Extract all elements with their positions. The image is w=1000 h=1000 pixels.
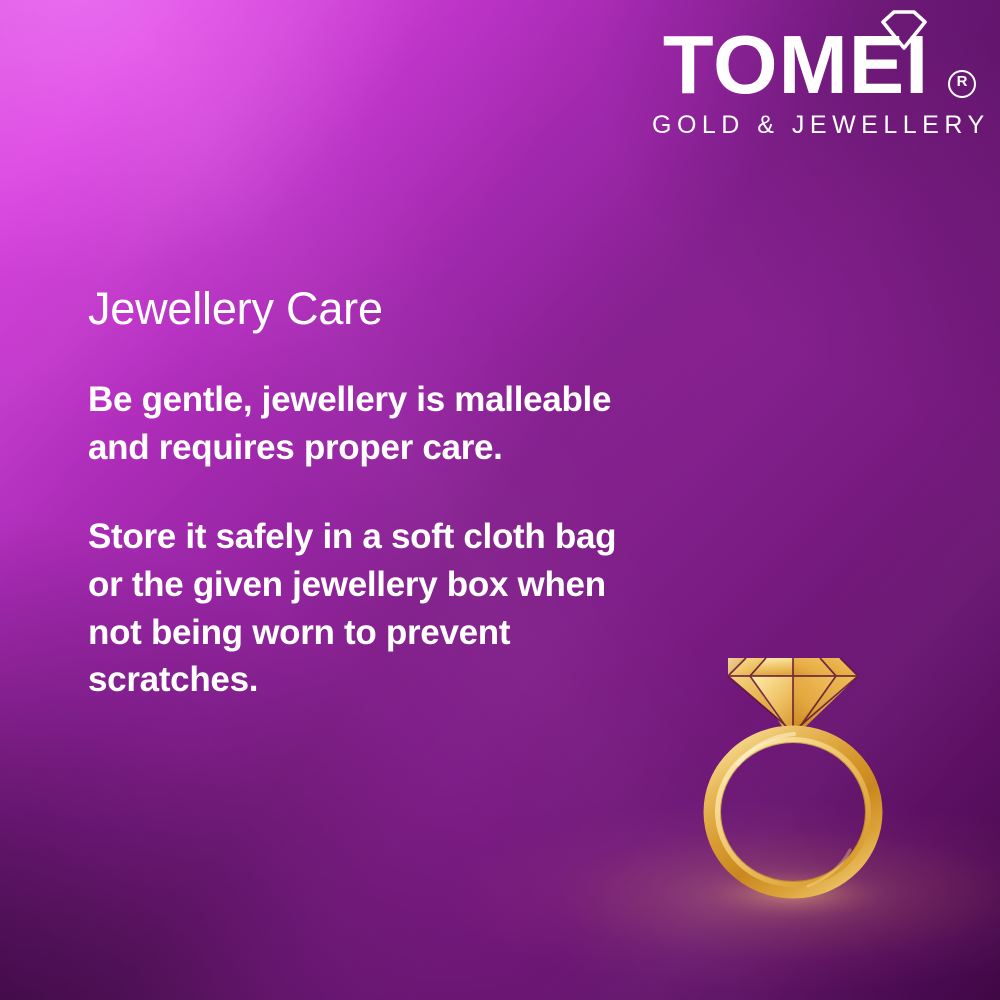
logo-tagline: GOLD & JEWELLERY xyxy=(648,111,978,140)
gold-diamond-ring-illustration xyxy=(690,636,900,926)
poster-canvas: TOMEI R GOLD & JEWELLERY Jewellery Care … xyxy=(0,0,1000,1000)
tomei-logo: TOMEI R GOLD & JEWELLERY xyxy=(648,26,978,140)
ring-band-icon xyxy=(712,734,874,890)
page-title: Jewellery Care xyxy=(88,285,668,332)
body-paragraph-2: Store it safely in a soft cloth bag or t… xyxy=(88,513,633,703)
copy-block: Jewellery Care Be gentle, jewellery is m… xyxy=(88,285,668,704)
logo-wordmark-text: TOMEI xyxy=(663,26,963,104)
registered-trademark-icon: R xyxy=(948,70,976,98)
logo-wordmark-row: TOMEI R xyxy=(648,26,978,104)
body-paragraph-1: Be gentle, jewellery is malleable and re… xyxy=(88,376,633,471)
diamond-solid-icon xyxy=(728,658,858,732)
